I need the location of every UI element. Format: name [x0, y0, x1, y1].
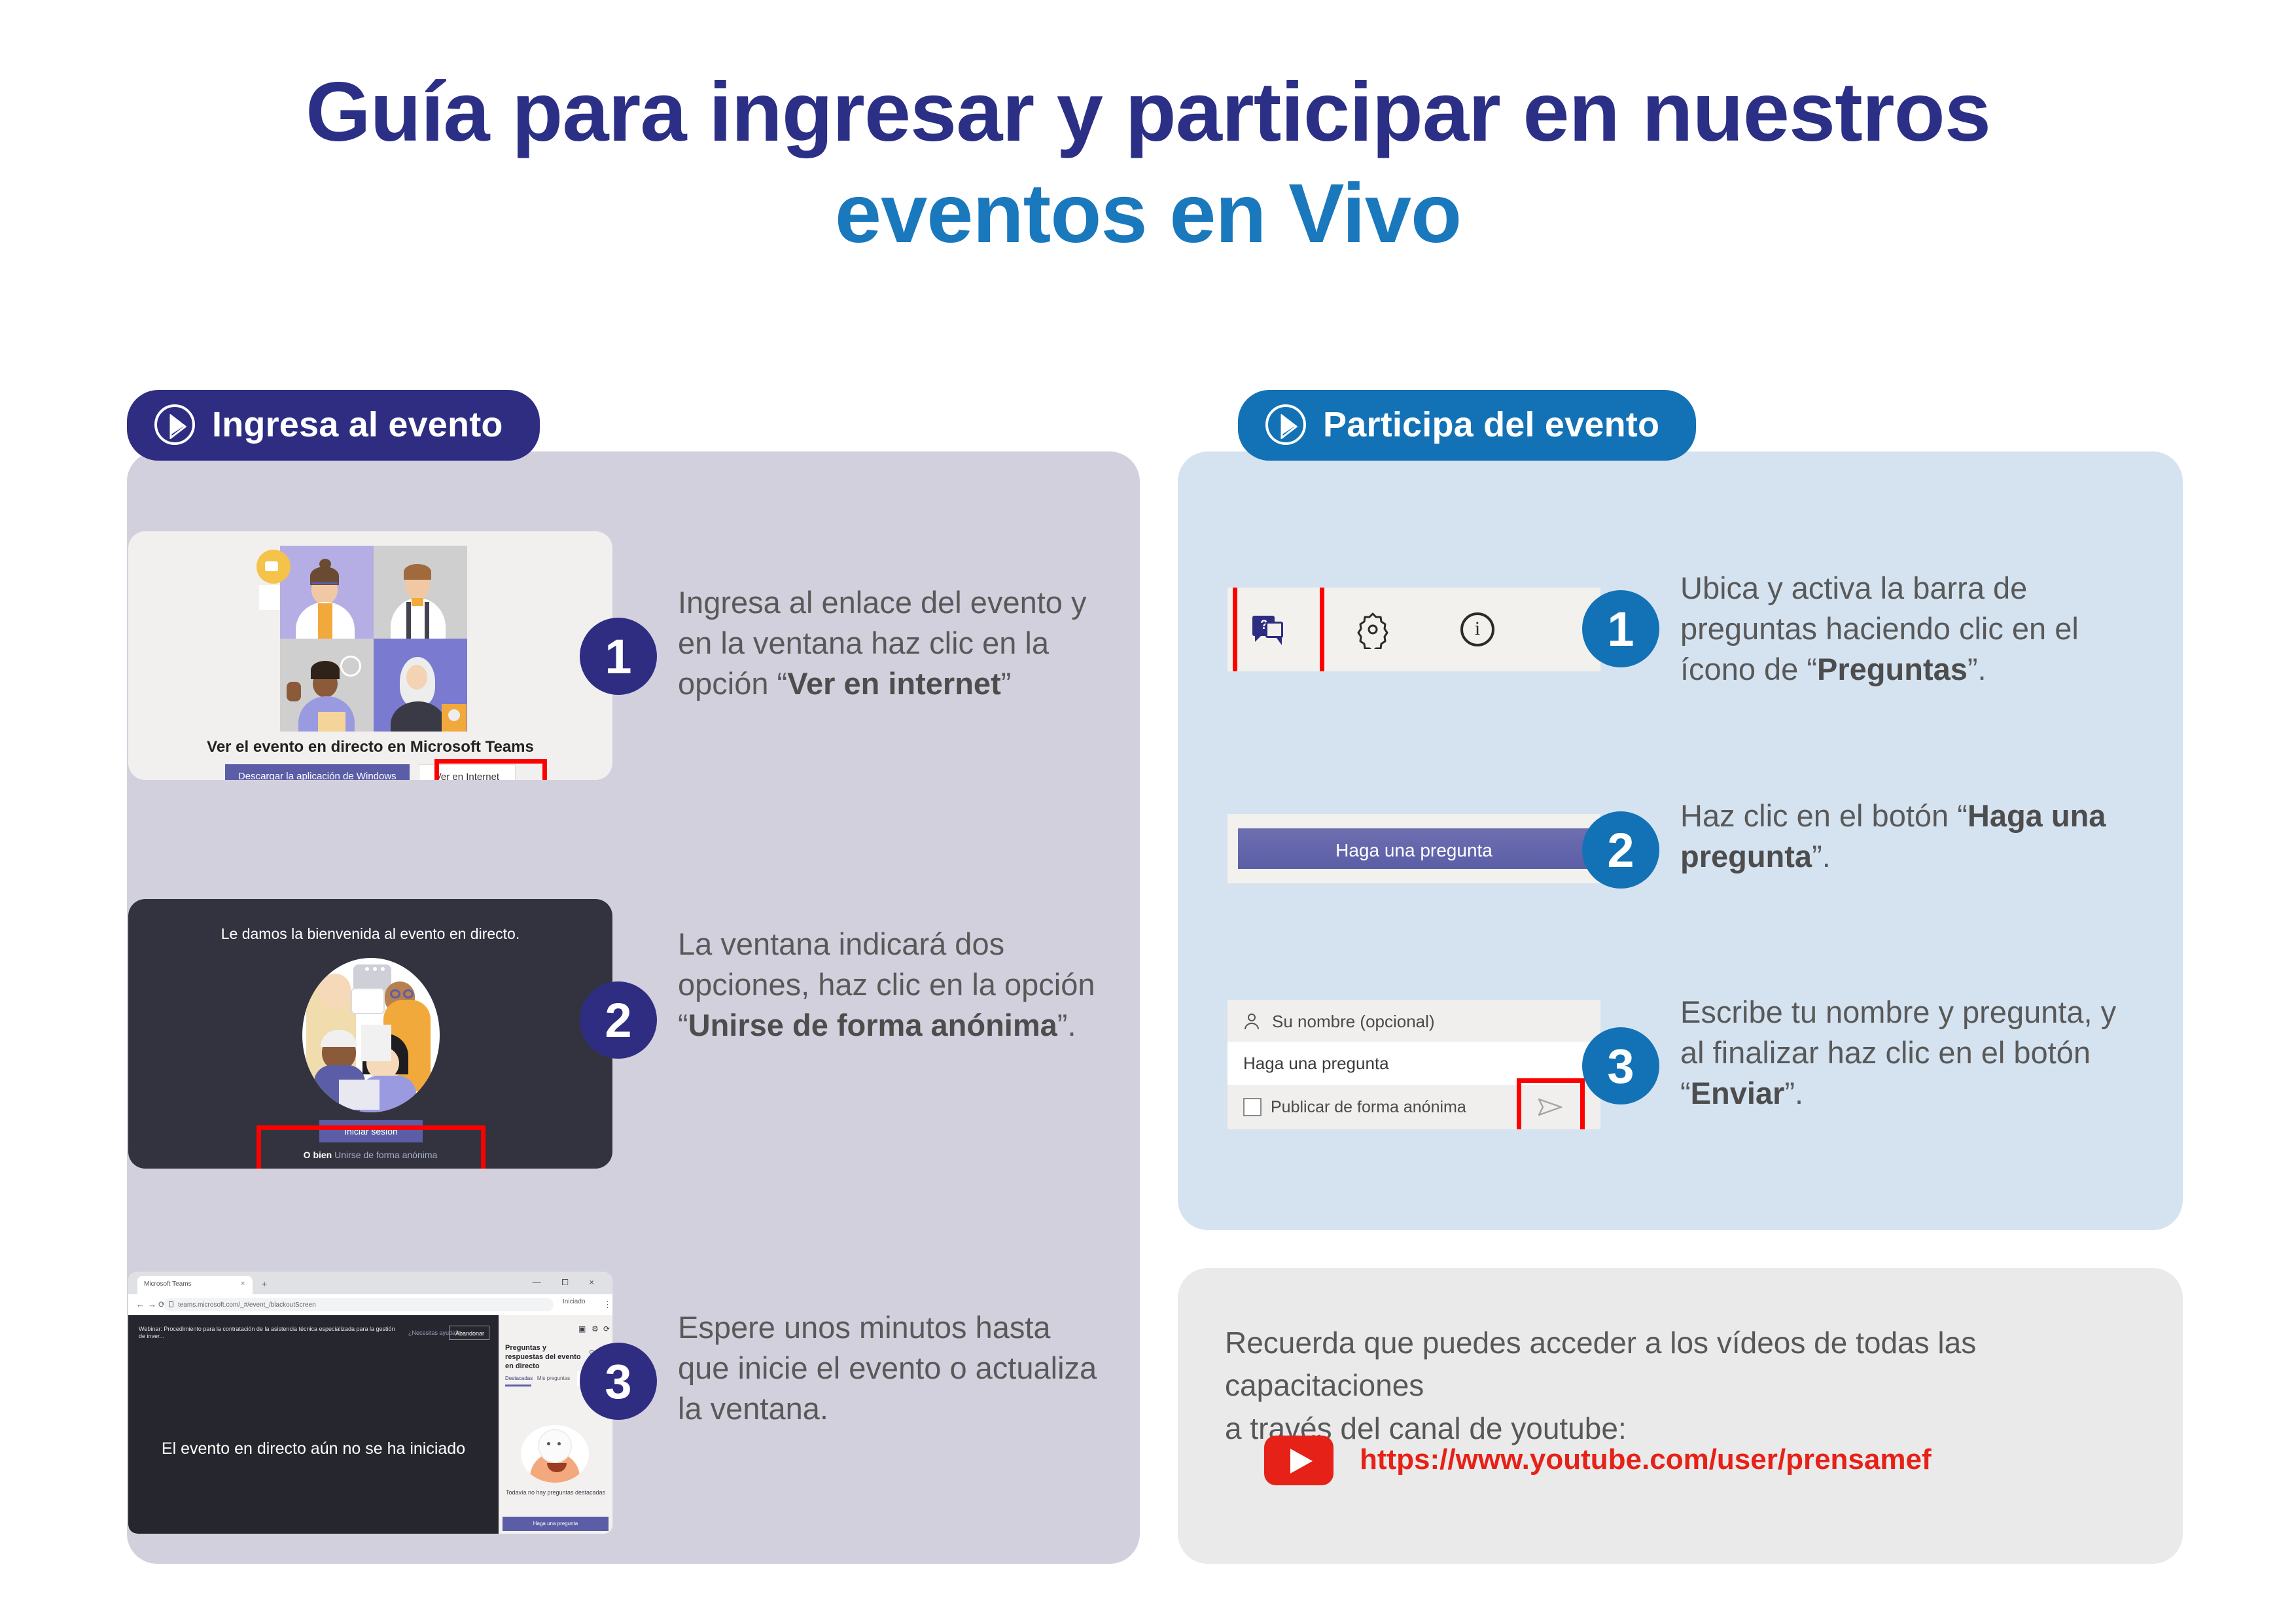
profile-label[interactable]: Iniciado [563, 1298, 585, 1305]
step-text-left-1-after: ” [1001, 666, 1012, 701]
window-controls[interactable]: — ⧠ × [533, 1277, 603, 1288]
name-placeholder: Su nombre (opcional) [1272, 1012, 1435, 1032]
leave-button[interactable]: Abandonar [449, 1326, 489, 1340]
participant-tile-2 [374, 546, 467, 639]
participant-tile-3 [280, 639, 374, 732]
step-text-left-3-before: Espere unos minutos hasta que inicie el … [678, 1310, 1097, 1426]
question-placeholder: Haga una pregunta [1243, 1053, 1389, 1074]
highlight-box-ver-en-internet [434, 759, 547, 780]
qa-empty-message: Todavía no hay preguntas destacadas [499, 1489, 612, 1496]
welcome-illustration [302, 958, 440, 1112]
step-text-left-1-bold: Ver en internet [787, 666, 1001, 701]
browser-menu-icon[interactable]: ⋮ [603, 1299, 612, 1310]
empty-state-illustration [521, 1425, 589, 1483]
questions-icon[interactable]: ▣ [578, 1324, 586, 1333]
download-windows-app-button[interactable]: Descargar la aplicación de Windows [225, 764, 410, 780]
step-number-right-2: 2 [1582, 811, 1659, 889]
step-text-right-3-after: ”. [1784, 1076, 1803, 1110]
participant-tile-4 [374, 639, 467, 732]
step-text-right-2-before: Haz clic en el botón “ [1680, 798, 1968, 833]
step-text-right-2-after: ”. [1812, 839, 1831, 874]
tab-mis-preguntas[interactable]: Mis preguntas [537, 1375, 570, 1381]
anonymous-checkbox[interactable] [1243, 1098, 1262, 1116]
anonymous-label: Publicar de forma anónima [1271, 1098, 1466, 1117]
forward-icon[interactable]: → [148, 1299, 156, 1309]
highlight-box-send-icon [1517, 1078, 1585, 1129]
section-header-ingresa: Ingresa al evento [127, 390, 540, 461]
screenshot-ask-question-button: Haga una pregunta [1227, 814, 1600, 883]
step-number-right-1: 1 [1582, 590, 1659, 667]
screenshot-question-form: Su nombre (opcional) Haga una pregunta P… [1227, 1000, 1600, 1129]
step-text-left-1: Ingresa al enlace del evento y en la ven… [678, 582, 1110, 704]
lock-icon [169, 1301, 173, 1307]
title-line-2: eventos en Vivo [0, 164, 2296, 263]
active-tab-underline [505, 1385, 531, 1386]
ask-question-label: Haga una pregunta [503, 1521, 609, 1527]
welcome-heading: Le damos la bienvenida al evento en dire… [128, 925, 612, 943]
new-tab-icon[interactable]: + [262, 1279, 267, 1289]
play-circle-icon [154, 404, 195, 445]
youtube-icon[interactable] [1264, 1436, 1333, 1485]
name-field-row[interactable]: Su nombre (opcional) [1227, 1000, 1600, 1042]
step-text-left-2-bold: Unirse de forma anónima [688, 1008, 1057, 1042]
back-icon[interactable]: ← [136, 1299, 145, 1309]
gear-icon[interactable] [1348, 605, 1398, 654]
address-bar[interactable]: teams.microsoft.com/_#/event_/blackoutSc… [164, 1298, 554, 1311]
step-number-right-3: 3 [1582, 1027, 1659, 1104]
footer-text: Recuerda que puedes acceder a los vídeos… [1225, 1322, 2154, 1450]
step-text-right-3-bold: Enviar [1691, 1076, 1785, 1110]
page-title: Guía para ingresar y participar en nuest… [0, 63, 2296, 263]
qa-tabs[interactable]: Destacadas Mis preguntas [505, 1375, 570, 1381]
section-header-participa: Participa del evento [1238, 390, 1696, 461]
stage-message: El evento en directo aún no se ha inicia… [128, 1439, 499, 1458]
step-text-left-2-after: ”. [1057, 1008, 1076, 1042]
ask-question-label: Haga una pregunta [1238, 840, 1590, 861]
step-text-left-3: Espere unos minutos hasta que inicie el … [678, 1307, 1110, 1429]
youtube-url-link[interactable]: https://www.youtube.com/user/prensamef [1360, 1443, 1932, 1476]
screenshot-welcome-live-event: Le damos la bienvenida al evento en dire… [128, 899, 612, 1169]
step-text-right-1-after: ”. [1968, 652, 1987, 686]
teams-landing-heading: Ver el evento en directo en Microsoft Te… [128, 738, 612, 756]
step-text-right-1: Ubica y activa la barra de preguntas hac… [1680, 568, 2138, 690]
step-text-right-1-bold: Preguntas [1817, 652, 1968, 686]
ask-question-button[interactable]: Haga una pregunta [503, 1517, 609, 1531]
ask-question-button[interactable]: Haga una pregunta [1238, 828, 1590, 869]
step-number-left-3: 3 [580, 1343, 657, 1420]
section-label-participa: Participa del evento [1323, 404, 1659, 445]
screenshot-browser-live-event: Microsoft Teams × + — ⧠ × ← → ⟳ teams.mi… [128, 1272, 612, 1534]
footer-line-1: Recuerda que puedes acceder a los vídeos… [1225, 1322, 2154, 1407]
gear-icon[interactable]: ⚙ [592, 1324, 599, 1333]
person-icon [1243, 1013, 1260, 1031]
play-triangle-icon [1280, 414, 1298, 439]
step-text-right-3: Escribe tu nombre y pregunta, y al final… [1680, 992, 2138, 1114]
qa-panel: ▣ ⚙ ⟳ Preguntas y respuestas del evento … [499, 1315, 612, 1534]
browser-tab[interactable]: Microsoft Teams [137, 1276, 253, 1294]
participant-tile-1 [280, 546, 374, 639]
play-triangle-icon [169, 414, 186, 439]
section-label-ingresa: Ingresa al evento [212, 404, 503, 445]
highlight-box-unirse-anonima [256, 1125, 486, 1169]
leave-label: Abandonar [450, 1330, 490, 1337]
info-icon[interactable] [1453, 605, 1502, 654]
video-camera-icon [256, 550, 291, 584]
refresh-icon[interactable]: ⟳ [603, 1324, 610, 1333]
screenshot-teams-landing: Ver el evento en directo en Microsoft Te… [128, 531, 612, 780]
close-tab-icon[interactable]: × [241, 1280, 245, 1288]
step-text-left-2: La ventana indicará dos opciones, haz cl… [678, 924, 1110, 1046]
play-circle-icon [1265, 404, 1306, 445]
screenshot-qa-toolbar: ? [1227, 588, 1600, 671]
webinar-title: Webinar: Procedimiento para la contratac… [139, 1326, 400, 1341]
highlight-box-questions-icon [1233, 588, 1324, 671]
qa-panel-title: Preguntas y respuestas del evento en dir… [505, 1344, 584, 1371]
step-text-right-2: Haz clic en el botón “Haga una pregunta”… [1680, 796, 2138, 877]
teams-participants-grid [280, 546, 467, 732]
infographic-page: Guía para ingresar y participar en nuest… [0, 0, 2296, 1624]
step-number-left-2: 2 [580, 981, 657, 1059]
step-number-left-1: 1 [580, 618, 657, 695]
live-event-stage: Webinar: Procedimiento para la contratac… [128, 1315, 499, 1534]
title-line-1: Guía para ingresar y participar en nuest… [0, 63, 2296, 162]
tab-destacadas[interactable]: Destacadas [505, 1375, 533, 1381]
